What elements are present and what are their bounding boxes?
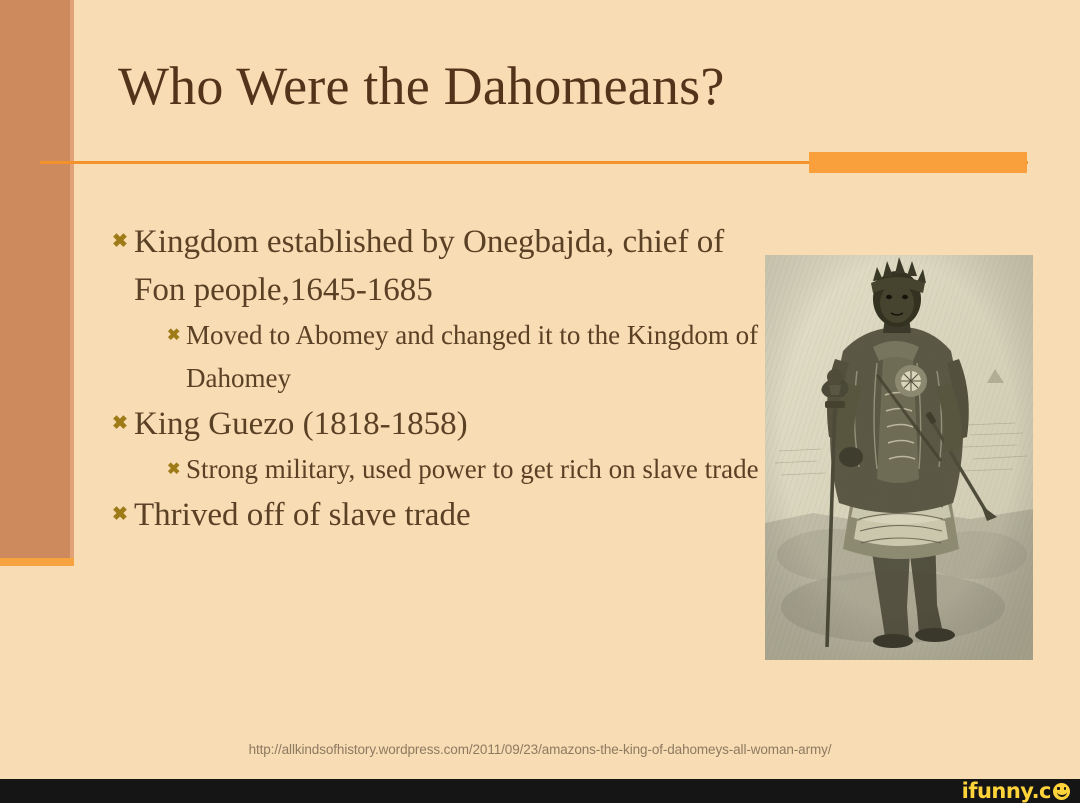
left-decorative-bar [0,0,70,565]
source-url-text: http://allkindsofhistory.wordpress.com/2… [0,742,1080,757]
bullet-text: Kingdom established by Onegbajda, chief … [134,218,762,314]
bullet-text: King Guezo (1818-1858) [134,400,762,448]
presentation-slide: Who Were the Dahomeans? ✖ Kingdom establ… [0,0,1080,803]
bullet-text: Strong military, used power to get rich … [186,448,762,491]
smiley-mouth [1057,790,1067,797]
bullet-marker-icon: ✖ [112,491,134,539]
bullet-marker-icon: ✖ [112,218,134,266]
watermark-label: ifunny.c [962,779,1051,803]
bullet-marker-icon: ✖ [112,400,134,448]
bullet-marker-icon: ✖ [167,314,186,357]
ifunny-watermark: ifunny.c [962,779,1070,803]
slide-title: Who Were the Dahomeans? [118,54,998,118]
bullet-item: ✖ Strong military, used power to get ric… [167,448,762,491]
bullet-item: ✖ Kingdom established by Onegbajda, chie… [112,218,762,314]
watermark-bar [0,779,1080,803]
left-decorative-bar-edge [70,0,74,565]
bullet-item: ✖ Thrived off of slave trade [112,491,762,539]
bullet-text: Moved to Abomey and changed it to the Ki… [186,314,762,400]
dahomean-king-engraving-image [765,255,1033,660]
bullet-item: ✖ King Guezo (1818-1858) [112,400,762,448]
bullet-text: Thrived off of slave trade [134,491,762,539]
bullet-list: ✖ Kingdom established by Onegbajda, chie… [112,218,762,539]
bullet-item: ✖ Moved to Abomey and changed it to the … [167,314,762,400]
left-decorative-bar-foot [0,558,74,566]
accent-block [809,152,1027,173]
smiley-face-icon [1053,783,1070,800]
bullet-marker-icon: ✖ [167,448,186,491]
